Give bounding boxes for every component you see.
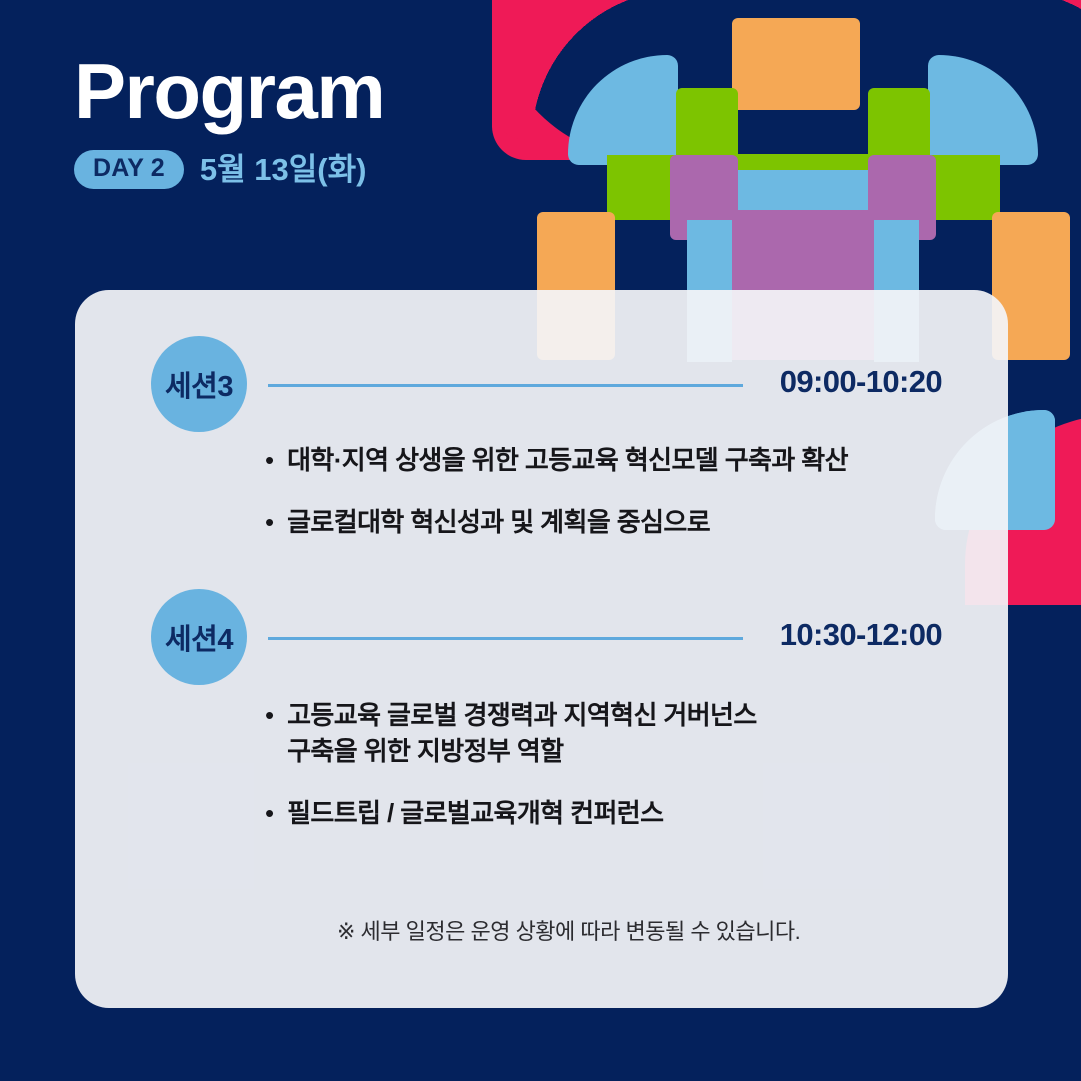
date-label: 5월 13일(화) <box>200 154 367 185</box>
green-block-right-2 <box>930 155 1000 220</box>
list-item: • 글로컬대학 혁신성과 및 계획을 중심으로 <box>265 504 968 540</box>
list-item: • 필드트립 / 글로벌교육개혁 컨퍼런스 <box>265 795 968 831</box>
session-header: 세션3 09:00-10:20 <box>75 336 1008 434</box>
bullet-text: 대학·지역 상생을 위한 고등교육 혁신모델 구축과 확산 <box>287 442 848 478</box>
green-block-left-1 <box>676 88 738 165</box>
session-time: 10:30-12:00 <box>780 617 942 653</box>
session-badge: 세션3 <box>151 336 247 432</box>
bullet-text: 글로컬대학 혁신성과 및 계획을 중심으로 <box>287 504 710 540</box>
session-block: 세션4 10:30-12:00 • 고등교육 글로벌 경쟁력과 지역혁신 거버넌… <box>75 589 1008 687</box>
list-item: • 대학·지역 상생을 위한 고등교육 혁신모델 구축과 확산 <box>265 442 968 478</box>
session-divider-line <box>268 637 743 640</box>
session-bullet-list: • 고등교육 글로벌 경쟁력과 지역혁신 거버넌스 구축을 위한 지방정부 역할… <box>265 697 968 857</box>
session-time: 09:00-10:20 <box>780 364 942 400</box>
footnote: ※ 세부 일정은 운영 상황에 따라 변동될 수 있습니다. <box>337 914 800 946</box>
bullet-text: 고등교육 글로벌 경쟁력과 지역혁신 거버넌스 구축을 위한 지방정부 역할 <box>287 697 757 769</box>
schedule-card: 세션3 09:00-10:20 • 대학·지역 상생을 위한 고등교육 혁신모델… <box>75 290 1008 1008</box>
bullet-dot: • <box>265 795 274 831</box>
list-item: • 고등교육 글로벌 경쟁력과 지역혁신 거버넌스 구축을 위한 지방정부 역할 <box>265 697 968 769</box>
session-block: 세션3 09:00-10:20 • 대학·지역 상생을 위한 고등교육 혁신모델… <box>75 336 1008 434</box>
bullet-dot: • <box>265 697 274 733</box>
page-title: Program <box>74 52 384 130</box>
session-header: 세션4 10:30-12:00 <box>75 589 1008 687</box>
bullet-dot: • <box>265 504 274 540</box>
subtitle-row: DAY 2 5월 13일(화) <box>74 150 384 189</box>
header: Program DAY 2 5월 13일(화) <box>74 52 384 189</box>
bullet-text: 필드트립 / 글로벌교육개혁 컨퍼런스 <box>287 795 663 831</box>
green-bar-center <box>738 154 868 170</box>
orange-block-top <box>732 18 860 110</box>
session-bullet-list: • 대학·지역 상생을 위한 고등교육 혁신모델 구축과 확산 • 글로컬대학 … <box>265 442 968 566</box>
day-badge: DAY 2 <box>74 150 184 189</box>
session-badge: 세션4 <box>151 589 247 685</box>
session-divider-line <box>268 384 743 387</box>
program-poster: Program DAY 2 5월 13일(화) 세션3 09:00-10:20 … <box>0 0 1081 1081</box>
green-block-left-2 <box>607 155 677 220</box>
green-block-right-1 <box>868 88 930 165</box>
bullet-dot: • <box>265 442 274 478</box>
